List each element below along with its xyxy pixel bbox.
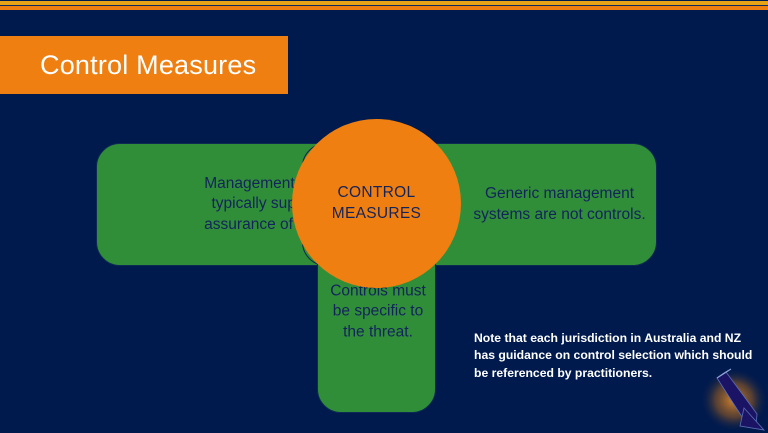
pen-tip	[740, 408, 764, 430]
stripe-band-navy-bottom	[0, 10, 768, 11]
slide-title-plate: Control Measures	[0, 36, 288, 94]
decorative-top-stripe	[0, 0, 768, 11]
footnote-text: Note that each jurisdiction in Australia…	[474, 330, 754, 382]
venn-panel-bottom-text: Controls must be specific to the threat.	[324, 281, 432, 342]
slide-canvas: Control Measures Management systems typi…	[0, 0, 768, 433]
venn-center-circle-label: CONTROL MEASURES	[332, 183, 421, 225]
venn-center-circle: CONTROL MEASURES	[292, 119, 461, 288]
page-title: Control Measures	[0, 52, 256, 79]
venn-panel-right-text: Generic management systems are not contr…	[463, 184, 656, 225]
